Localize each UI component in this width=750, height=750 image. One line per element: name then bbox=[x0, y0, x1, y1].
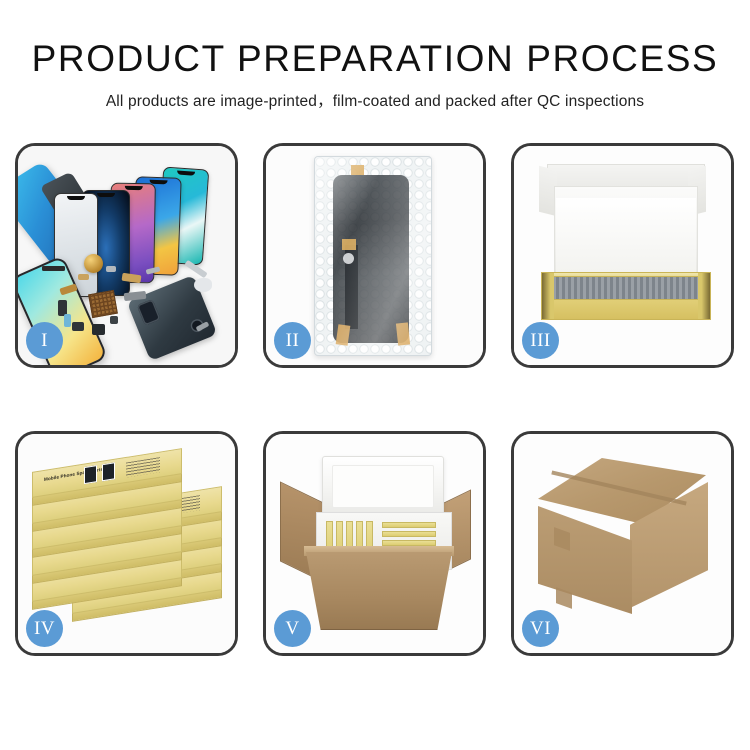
small-part bbox=[72, 322, 84, 331]
carton-front-face bbox=[538, 506, 632, 614]
box-stack: Mobile Phone Spare Parts bbox=[26, 452, 234, 642]
small-part bbox=[106, 266, 116, 272]
tray-corner-right bbox=[698, 273, 710, 319]
process-step-6: VI bbox=[511, 431, 734, 656]
small-part bbox=[110, 316, 118, 324]
process-step-1: I bbox=[15, 143, 238, 368]
process-step-3: III bbox=[511, 143, 734, 368]
small-part bbox=[64, 314, 71, 327]
process-step-4: Mobile Phone Spare Parts bbox=[15, 431, 238, 656]
notch-icon bbox=[97, 193, 115, 197]
chip-grid-part bbox=[88, 290, 118, 318]
notch-icon bbox=[67, 196, 85, 200]
header: PRODUCT PREPARATION PROCESS All products… bbox=[0, 0, 750, 111]
retail-box-edge bbox=[382, 522, 436, 528]
box-label-thumbnail bbox=[84, 465, 97, 484]
step-badge-2: II bbox=[274, 322, 311, 359]
battery-connector-part bbox=[42, 266, 65, 271]
box-tray bbox=[541, 272, 711, 320]
carton-body bbox=[306, 552, 452, 630]
step-badge-3: III bbox=[522, 322, 559, 359]
box-label-thumbnail bbox=[102, 462, 115, 481]
small-part bbox=[92, 324, 105, 335]
retail-box-edge bbox=[382, 531, 436, 537]
foam-sheet bbox=[556, 198, 696, 272]
page-subtitle: All products are image-printed，film-coat… bbox=[0, 89, 750, 111]
process-step-2: II bbox=[263, 143, 486, 368]
tray-corner-left bbox=[542, 273, 554, 319]
step-badge-5: V bbox=[274, 610, 311, 647]
page-title: PRODUCT PREPARATION PROCESS bbox=[0, 38, 750, 80]
step-badge-4: IV bbox=[26, 610, 63, 647]
bubble-wrapped-contents bbox=[552, 276, 700, 300]
notch-icon bbox=[124, 186, 142, 190]
bubble-wrap-bag bbox=[314, 156, 432, 356]
retail-box-labeled: Mobile Phone Spare Parts bbox=[32, 460, 182, 486]
process-step-5: V bbox=[263, 431, 486, 656]
speaker-coil-part bbox=[84, 254, 103, 273]
small-part bbox=[194, 278, 212, 292]
product-preparation-infographic: PRODUCT PREPARATION PROCESS All products… bbox=[0, 0, 750, 750]
foam-box-lid bbox=[322, 456, 444, 518]
process-step-grid: I II bbox=[15, 143, 735, 688]
notch-icon bbox=[177, 170, 195, 175]
step-badge-6: VI bbox=[522, 610, 559, 647]
small-part bbox=[78, 274, 89, 280]
step-badge-1: I bbox=[26, 322, 63, 359]
plastic-sheen bbox=[315, 157, 431, 355]
